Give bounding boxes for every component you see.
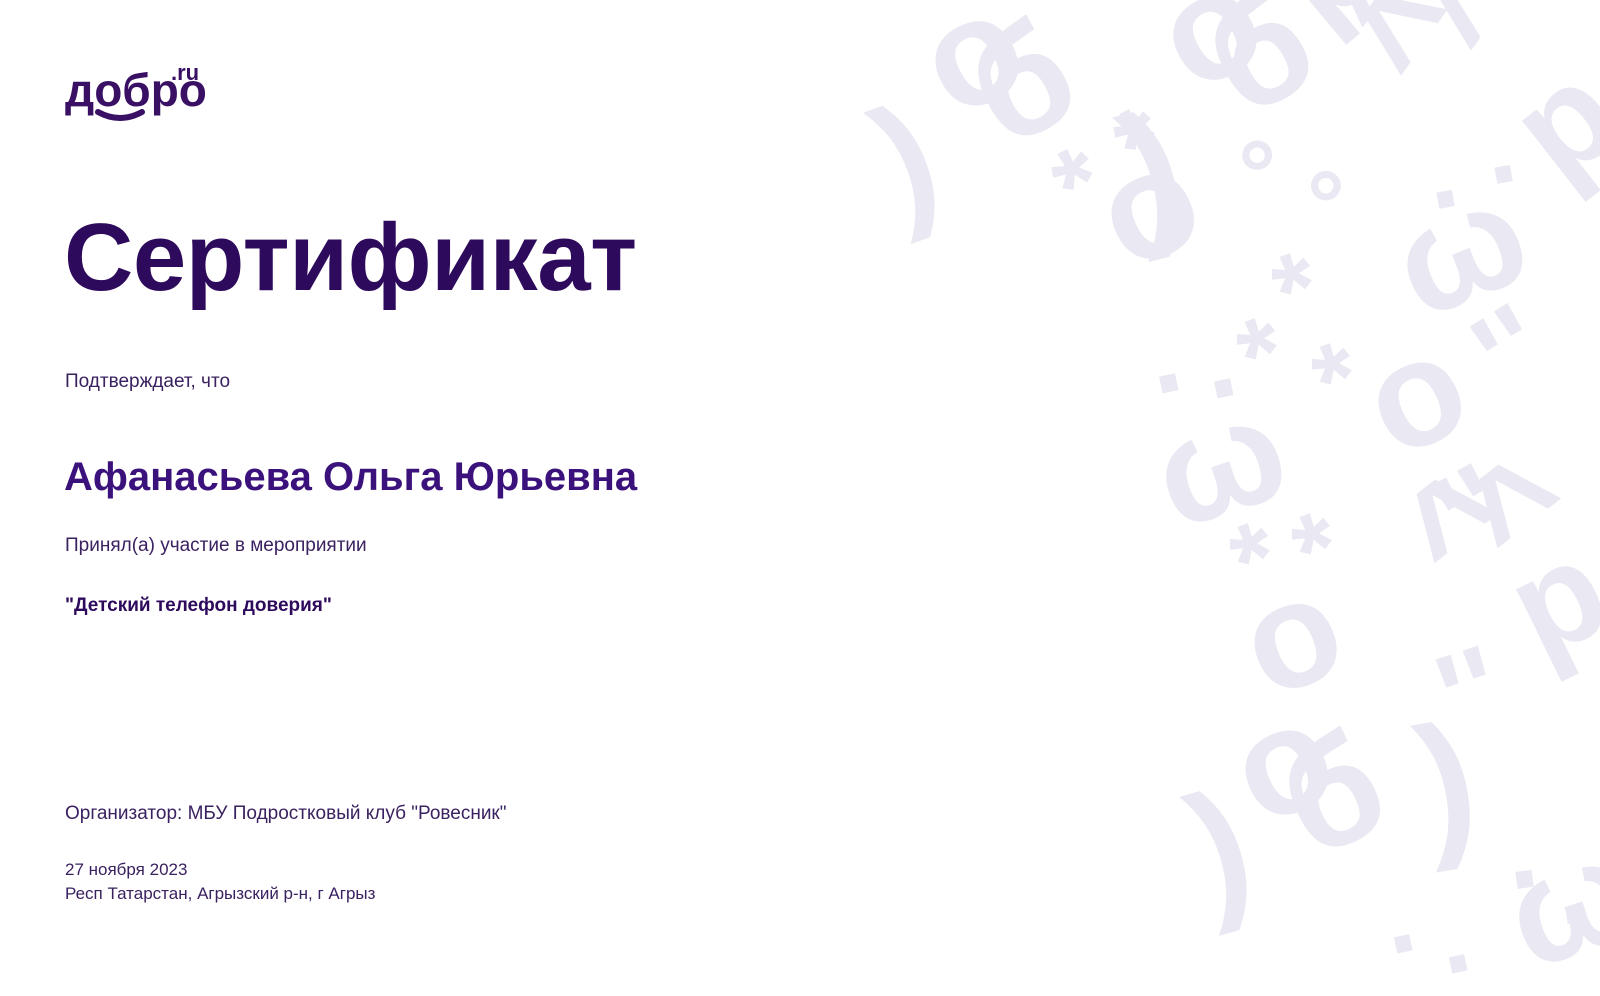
event-title: "Детский телефон доверия" <box>65 595 332 617</box>
organizer-line: Организатор: МБУ Подростковый клуб "Рове… <box>65 803 507 825</box>
logo-tld-text: .ru <box>171 62 199 85</box>
certificate-page: o б ) o б ) ^ ^ p ^ p * * o ° ° * . . <box>0 0 1600 996</box>
certificate-content: Сертификат Подтверждает, что Афанасьева … <box>0 0 1600 996</box>
issue-place: Респ Татарстан, Агрызский р-н, г Агрыз <box>65 884 375 904</box>
participated-label: Принял(а) участие в мероприятии <box>65 535 367 557</box>
dobro-ru-logo: добро .ru <box>65 62 265 124</box>
confirms-label: Подтверждает, что <box>65 371 230 393</box>
recipient-name: Афанасьева Ольга Юрьевна <box>64 455 637 500</box>
certificate-title: Сертификат <box>64 208 637 309</box>
issue-date: 27 ноября 2023 <box>65 860 187 880</box>
